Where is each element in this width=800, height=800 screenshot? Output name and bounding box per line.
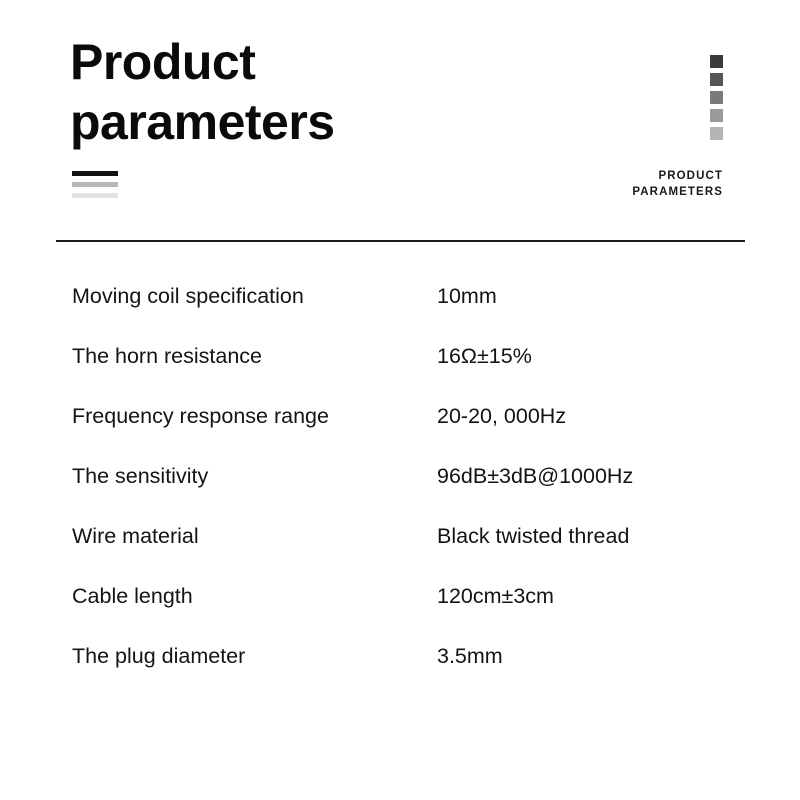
- three-bar-accent: [72, 171, 122, 204]
- header-divider: [56, 240, 745, 242]
- gradient-square-1: [710, 55, 723, 68]
- gradient-square-3: [710, 91, 723, 104]
- gradient-square-column: [710, 55, 726, 145]
- accent-bar-3: [72, 193, 118, 198]
- spec-label: The horn resistance: [72, 326, 262, 386]
- spec-value: 16Ω±15%: [437, 326, 532, 386]
- spec-label: The sensitivity: [72, 446, 208, 506]
- spec-value: 120cm±3cm: [437, 566, 554, 626]
- spec-value: 10mm: [437, 266, 497, 326]
- spec-row: Frequency response range20-20, 000Hz: [0, 386, 800, 446]
- spec-label: The plug diameter: [72, 626, 245, 686]
- gradient-square-4: [710, 109, 723, 122]
- accent-bar-1: [72, 171, 118, 176]
- spec-value: 20-20, 000Hz: [437, 386, 566, 446]
- spec-row: Wire materialBlack twisted thread: [0, 506, 800, 566]
- gradient-square-5: [710, 127, 723, 140]
- spec-row: The plug diameter3.5mm: [0, 626, 800, 686]
- product-parameters-page: Product parameters PRODUCT PARAMETERS Mo…: [0, 0, 800, 800]
- spec-table: Moving coil specification10mmThe horn re…: [0, 266, 800, 686]
- spec-label: Wire material: [72, 506, 199, 566]
- spec-row: Cable length120cm±3cm: [0, 566, 800, 626]
- spec-label: Moving coil specification: [72, 266, 304, 326]
- corner-section-label: PRODUCT PARAMETERS: [463, 168, 723, 200]
- spec-value: 3.5mm: [437, 626, 503, 686]
- accent-bar-2: [72, 182, 118, 187]
- spec-label: Frequency response range: [72, 386, 329, 446]
- spec-value: Black twisted thread: [437, 506, 629, 566]
- page-header: Product parameters PRODUCT PARAMETERS: [0, 0, 800, 240]
- spec-value: 96dB±3dB@1000Hz: [437, 446, 633, 506]
- page-title: Product parameters: [70, 32, 570, 152]
- spec-row: The horn resistance16Ω±15%: [0, 326, 800, 386]
- spec-row: The sensitivity96dB±3dB@1000Hz: [0, 446, 800, 506]
- spec-label: Cable length: [72, 566, 193, 626]
- gradient-square-2: [710, 73, 723, 86]
- spec-row: Moving coil specification10mm: [0, 266, 800, 326]
